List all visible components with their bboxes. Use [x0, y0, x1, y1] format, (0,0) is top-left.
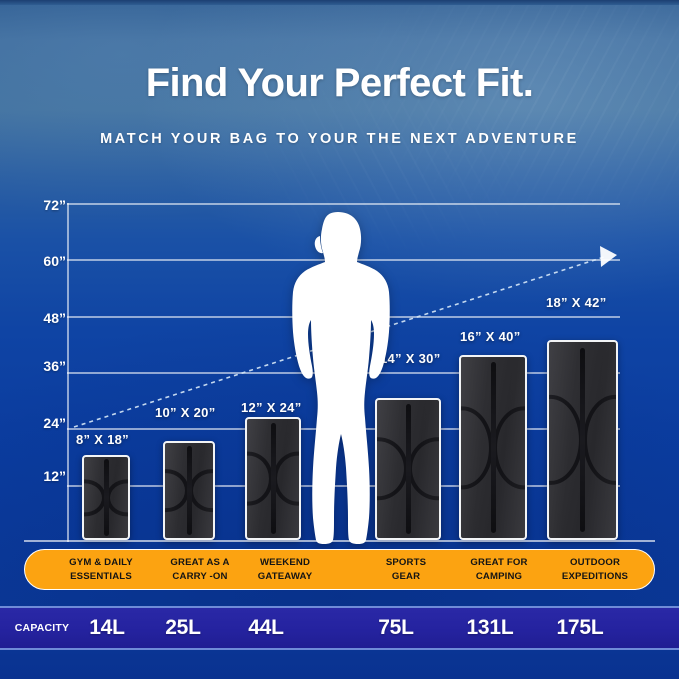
y-axis-tick-label: 36” — [20, 358, 66, 374]
capacity-value: 131L — [452, 616, 528, 640]
person-silhouette-icon — [276, 210, 406, 546]
bag-sheen — [461, 357, 525, 538]
bag-bar[interactable] — [163, 441, 215, 540]
bag-dimension-label: 8” X 18” — [76, 432, 129, 447]
capacity-value: 25L — [150, 616, 216, 640]
capacity-value: 44L — [233, 616, 299, 640]
bag-dimension-label: 18” X 42” — [546, 295, 607, 310]
capacity-value: 14L — [74, 616, 140, 640]
bag-dimension-label: 10” X 20” — [155, 405, 216, 420]
category-item[interactable]: SPORTS GEAR — [359, 556, 453, 583]
y-axis-tick-label: 60” — [20, 253, 66, 269]
y-axis-tick-label: 24” — [20, 415, 66, 431]
category-item[interactable]: GYM & DAILY ESSENTIALS — [49, 556, 153, 583]
infographic-root: Find Your Perfect Fit. MATCH YOUR BAG TO… — [0, 0, 679, 679]
bag-sheen — [84, 457, 128, 538]
bag-bar[interactable] — [82, 455, 130, 540]
category-band: GYM & DAILY ESSENTIALSGREAT AS A CARRY -… — [24, 549, 655, 590]
capacity-value: 75L — [361, 616, 431, 640]
capacity-value: 175L — [539, 616, 621, 640]
category-item[interactable]: OUTDOOR EXPEDITIONS — [539, 556, 651, 583]
category-item[interactable]: WEEKEND GATEAWAY — [233, 556, 337, 583]
bag-bar[interactable] — [459, 355, 527, 540]
chart-y-axis — [67, 203, 69, 542]
gridline-72 — [67, 203, 620, 205]
y-axis-tick-label: 12” — [20, 468, 66, 484]
chart-baseline — [24, 540, 655, 542]
y-axis-tick-label: 48” — [20, 310, 66, 326]
category-item[interactable]: GREAT FOR CAMPING — [447, 556, 551, 583]
bag-bar[interactable] — [547, 340, 618, 540]
capacity-band: CAPACITY 14L25L44L75L131L175L — [0, 606, 679, 650]
bag-sheen — [165, 443, 213, 538]
bag-sheen — [549, 342, 616, 538]
y-axis-tick-label: 72” — [20, 197, 66, 213]
capacity-label: CAPACITY — [8, 622, 76, 634]
footer-strip — [0, 650, 679, 679]
bag-dimension-label: 16” X 40” — [460, 329, 521, 344]
